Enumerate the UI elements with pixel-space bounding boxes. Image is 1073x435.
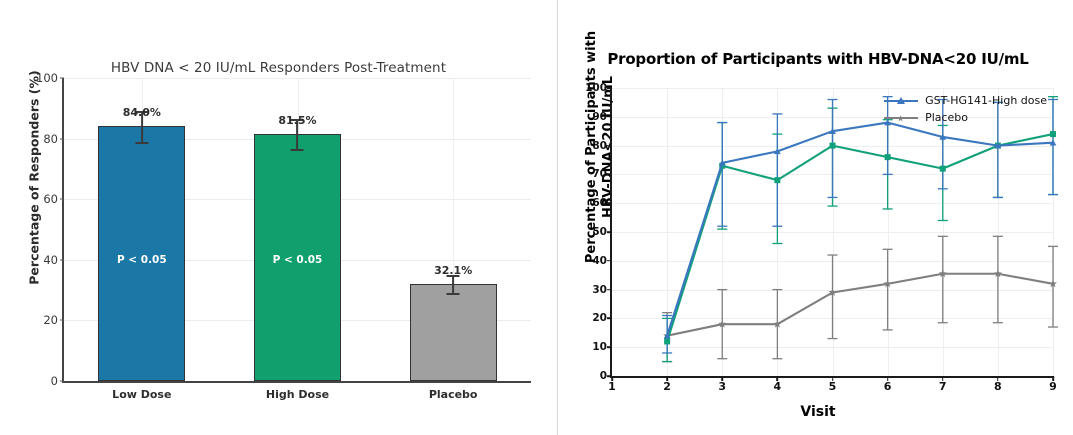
line-chart-y-tick-label: 80 [592,140,607,152]
line-chart-x-tick-label: 7 [939,380,947,393]
line-chart-x-tick-label: 1 [608,380,616,393]
bar-chart-error-bar-cap [291,149,304,151]
bar-chart-bar-group[interactable]: 84.0%P < 0.05Low Dose [98,78,185,381]
bar-chart-y-axis-label: Percentage of Responders (%) [27,48,42,308]
bar-chart-value-label: 81.5% [278,114,316,127]
legend-marker-sample [897,97,905,104]
line-chart-plot-area: 0102030405060708090100123456789GST-HG141… [610,88,1053,378]
line-chart-title: Proportion of Participants with HBV-DNA<… [568,50,1068,68]
line-chart-legend-item[interactable]: Placebo [884,109,1047,126]
line-chart-series-layer [612,88,1053,376]
line-chart-y-tick-label: 10 [592,341,607,353]
bar-chart-x-tick-label: Low Dose [112,388,171,401]
line-chart-x-tick-label: 5 [829,380,837,393]
bar-chart-error-bar [452,275,454,293]
line-chart-y-tick-label: 90 [592,111,607,123]
bar-chart-x-tick-label: High Dose [266,388,329,401]
bar-chart-y-tick-mark [60,381,64,382]
line-chart-legend-item[interactable]: GST-HG141-High dose [884,92,1047,109]
line-chart-x-tick-label: 2 [663,380,671,393]
bar-chart-y-tick-mark [60,138,64,139]
line-chart-x-tick-label: 8 [994,380,1002,393]
line-chart-x-tick-label: 9 [1049,380,1057,393]
line-chart-legend-label: Placebo [925,111,968,124]
line-chart-data-point[interactable] [940,166,946,172]
bar-chart-panel: HBV DNA < 20 IU/mL Responders Post-Treat… [0,0,557,435]
bar-chart-plot-area: 02040608010084.0%P < 0.05Low Dose81.5%P … [62,78,531,383]
bar-chart-y-tick-label: 0 [51,374,58,388]
bar-chart-y-tick-mark [60,259,64,260]
triangle-marker-icon [884,95,918,106]
bar-chart-y-tick-mark [60,320,64,321]
bar-chart-y-tick-label: 80 [43,132,58,146]
line-chart-y-tick-label: 60 [592,197,607,209]
line-chart-y-tick-label: 100 [585,82,607,94]
line-chart-legend: GST-HG141-High dosePlacebo [884,92,1047,126]
bar-chart-y-tick-label: 40 [43,253,58,267]
bar-chart-y-tick-mark [60,78,64,79]
line-chart-y-tick-label: 50 [592,226,607,238]
bar-chart-bar[interactable] [410,284,497,381]
bar-chart-title: HBV DNA < 20 IU/mL Responders Post-Treat… [0,60,557,76]
line-chart-data-point[interactable] [885,154,891,160]
bar-chart-y-tick-label: 60 [43,192,58,206]
line-chart-x-axis-label: Visit [608,404,1028,420]
line-chart-y-tick-label: 30 [592,284,607,296]
line-chart-x-tick-label: 4 [774,380,782,393]
line-chart-legend-label: GST-HG141-High dose [925,94,1047,107]
line-chart-y-tick-label: 0 [600,370,607,382]
bar-chart-y-tick-label: 20 [43,313,58,327]
figure-root: HBV DNA < 20 IU/mL Responders Post-Treat… [0,0,1073,435]
bar-chart-bar-group[interactable]: 32.1%Placebo [410,78,497,381]
line-chart-y-tick-label: 20 [592,312,607,324]
line-chart-panel: Proportion of Participants with HBV-DNA<… [558,0,1073,435]
line-chart-data-point[interactable] [830,143,836,149]
bar-chart-y-tick-mark [60,199,64,200]
bar-chart-value-label: 84.0% [123,106,161,119]
line-chart-x-tick-label: 6 [884,380,892,393]
line-chart-data-point[interactable] [664,338,670,344]
line-chart-data-point[interactable] [1050,131,1056,137]
bar-chart-bar-group[interactable]: 81.5%P < 0.05High Dose [254,78,341,381]
line-chart-y-tick-label: 40 [592,255,607,267]
bar-chart-significance-label: P < 0.05 [273,254,323,266]
line-chart-y-tick-label: 70 [592,168,607,180]
line-chart-series-line[interactable] [667,274,1053,336]
line-chart-x-tick-label: 3 [718,380,726,393]
line-chart-data-point[interactable] [774,177,780,183]
bar-chart-error-bar-cap [447,293,460,295]
bar-chart-value-label: 32.1% [434,264,472,277]
bar-chart-error-bar-cap [135,142,148,144]
star-marker-icon [884,112,918,123]
bar-chart-y-tick-label: 100 [36,71,58,85]
bar-chart-x-tick-label: Placebo [429,388,478,401]
bar-chart-significance-label: P < 0.05 [117,254,167,266]
